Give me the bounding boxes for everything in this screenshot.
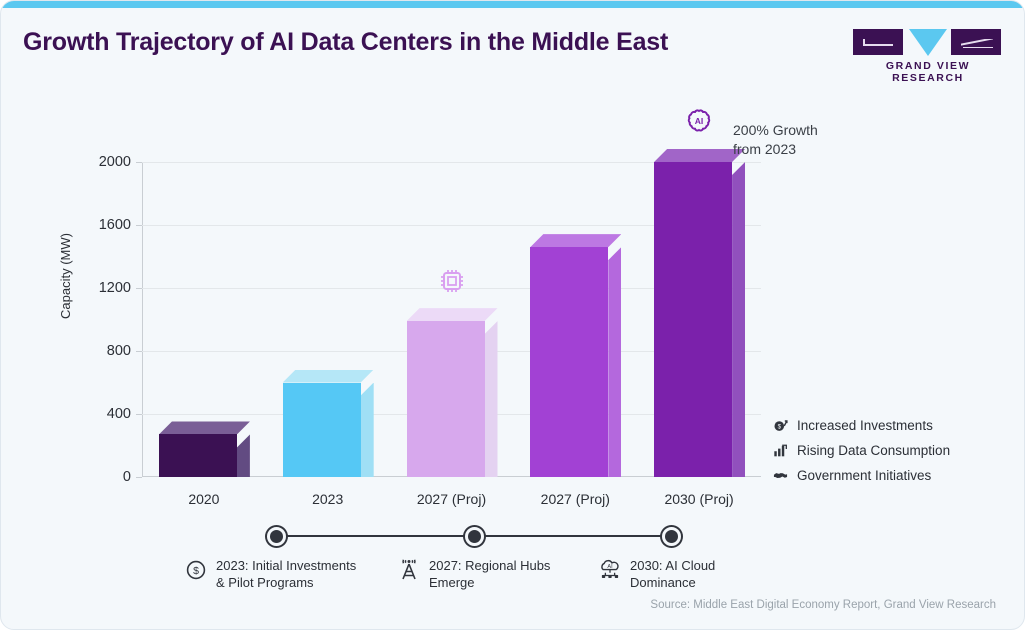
bar-top-face [530, 234, 621, 247]
timeline-dot-2030[interactable] [662, 527, 681, 546]
bar-top-face [283, 370, 374, 383]
bar-2020[interactable] [159, 434, 237, 477]
timeline-2030-line2: Dominance [630, 575, 696, 590]
timeline-entry-2030: AI 2030: AI Cloud Dominance [598, 557, 715, 591]
legend-item-government: Government Initiatives [773, 463, 950, 488]
ai-brain-icon: AI [682, 104, 716, 138]
bar-front [159, 434, 237, 477]
timeline-2023-line2: & Pilot Programs [216, 575, 314, 590]
bar-chart-plot: 0400800120016002000 202020232027 (Proj)2… [142, 162, 761, 477]
timeline-2023-line1: 2023: Initial Investments [216, 558, 356, 573]
logo-triangle-icon [909, 29, 947, 56]
y-tick [136, 414, 142, 415]
dollar-circle-icon: $ [184, 557, 208, 583]
y-tick-label: 1200 [99, 280, 131, 296]
bar-front [407, 321, 485, 477]
bar-2027-proj-[interactable] [407, 321, 485, 477]
broadcast-tower-icon [397, 557, 421, 583]
timeline-2030-line1: 2030: AI Cloud [630, 558, 715, 573]
growth-annotation-line1: 200% Growth [733, 121, 818, 140]
legend-item-data-consumption: Rising Data Consumption [773, 438, 950, 463]
x-axis-label: 2020 [142, 477, 266, 507]
x-axis-label: 2027 (Proj) [513, 477, 637, 507]
source-note: Source: Middle East Digital Economy Repo… [650, 599, 996, 611]
infographic-card: Growth Trajectory of AI Data Centers in … [0, 0, 1025, 630]
legend-label-data-consumption: Rising Data Consumption [797, 443, 950, 458]
svg-text:AI: AI [607, 564, 613, 570]
x-axis-label: 2030 (Proj) [637, 477, 761, 507]
bar-top-face [407, 308, 498, 321]
y-axis-title: Capacity (MW) [58, 233, 73, 319]
handshake-icon [773, 468, 788, 483]
bar-side-face [608, 247, 621, 477]
grand-view-research-logo: GRAND VIEW RESEARCH [853, 27, 1003, 77]
timeline-dot-2023[interactable] [267, 527, 286, 546]
timeline-2027-line1: 2027: Regional Hubs [429, 558, 550, 573]
growth-annotation: 200% Growth from 2023 [733, 121, 818, 159]
legend-item-investments: $ Increased Investments [773, 413, 950, 438]
timeline-entry-2027: 2027: Regional Hubs Emerge [397, 557, 550, 591]
milestone-timeline: $ 2023: Initial Investments & Pilot Prog… [1, 521, 1025, 601]
logo-mark-left [863, 39, 893, 46]
y-tick-label: 800 [107, 343, 131, 359]
legend-label-government: Government Initiatives [797, 468, 931, 483]
bar-side-face [485, 321, 498, 477]
timeline-dot-2027[interactable] [465, 527, 484, 546]
bar-front [283, 383, 361, 478]
y-tick-label: 0 [123, 469, 131, 485]
timeline-text-2030: 2030: AI Cloud Dominance [630, 557, 715, 591]
legend-label-investments: Increased Investments [797, 418, 933, 433]
timeline-text-2023: 2023: Initial Investments & Pilot Progra… [216, 557, 356, 591]
chart-legend: $ Increased Investments Rising Data Cons… [773, 413, 950, 488]
logo-mark-right [961, 39, 993, 48]
y-tick [136, 288, 142, 289]
y-tick-label: 1600 [99, 217, 131, 233]
svg-text:AI: AI [695, 116, 704, 126]
svg-text:$: $ [778, 424, 782, 431]
timeline-2027-line2: Emerge [429, 575, 475, 590]
bar-2030-proj-[interactable] [654, 162, 732, 477]
logo-wordmark: GRAND VIEW RESEARCH [853, 60, 1003, 84]
timeline-entry-2023: $ 2023: Initial Investments & Pilot Prog… [184, 557, 356, 591]
x-axis-label: 2027 (Proj) [390, 477, 514, 507]
y-tick-label: 400 [107, 406, 131, 422]
ai-cloud-icon: AI [598, 557, 622, 583]
bar-2027-proj-[interactable] [530, 247, 608, 477]
bar-side-face [732, 162, 745, 477]
y-tick [136, 225, 142, 226]
y-tick [136, 351, 142, 352]
bar-top-face [654, 149, 745, 162]
bar-side-face [361, 383, 374, 478]
bar-front [530, 247, 608, 477]
y-axis-line [142, 162, 143, 477]
bar-top-face [159, 421, 250, 434]
page-title: Growth Trajectory of AI Data Centers in … [23, 28, 668, 57]
y-tick [136, 162, 142, 163]
bar-front [654, 162, 732, 477]
x-axis-label: 2023 [266, 477, 390, 507]
logo-marks [853, 27, 1003, 57]
growth-annotation-line2: from 2023 [733, 140, 818, 159]
bar-chart-up-icon [773, 443, 788, 458]
timeline-text-2027: 2027: Regional Hubs Emerge [429, 557, 550, 591]
microchip-icon [436, 265, 468, 297]
money-growth-icon: $ [773, 418, 788, 433]
bar-side-face [237, 434, 250, 477]
y-tick-label: 2000 [99, 154, 131, 170]
svg-text:$: $ [193, 565, 199, 577]
accent-top-bar [1, 1, 1025, 8]
bar-2023[interactable] [283, 383, 361, 478]
